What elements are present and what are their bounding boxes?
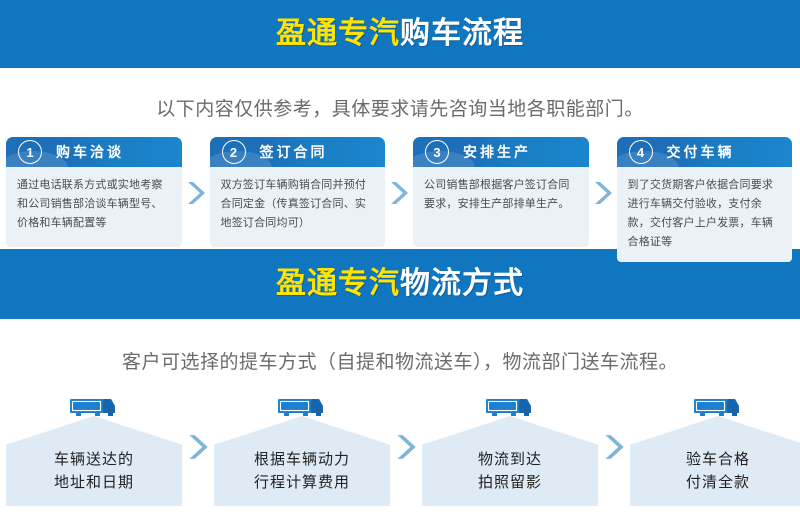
flow-card-label: 根据车辆动力 行程计算费用 [214, 448, 390, 495]
step-card-body: 公司销售部根据客户签订合同要求，安排生产部排单生产。 [413, 167, 589, 247]
chevron-right-icon [390, 396, 422, 506]
flow-label-line1: 车辆送达的 [6, 448, 182, 471]
banner-subject-text: 物流方式 [400, 267, 524, 300]
flow-card-4[interactable]: 验车合格 付清全款 [630, 396, 800, 506]
flow-label-line2: 行程计算费用 [214, 471, 390, 494]
step-card-header: 2 签订合同 [210, 137, 386, 167]
banner-title-purchase: 盈通专汽购车流程 [276, 19, 524, 49]
flow-label-line1: 根据车辆动力 [214, 448, 390, 471]
flow-card-label: 验车合格 付清全款 [630, 448, 800, 495]
truck-icon [68, 396, 120, 422]
flow-card-label: 车辆送达的 地址和日期 [6, 448, 182, 495]
logistics-caption: 客户可选择的提车方式（自提和物流送车），物流部门送车流程。 [0, 319, 800, 388]
flow-label-line2: 地址和日期 [6, 471, 182, 494]
step-card-header: 1 购车洽谈 [6, 137, 182, 167]
truck-icon [276, 396, 328, 422]
truck-icon [484, 396, 536, 422]
flow-label-line1: 物流到达 [422, 448, 598, 471]
flow-card-label: 物流到达 拍照留影 [422, 448, 598, 495]
brand-name-text: 盈通专汽 [276, 17, 400, 50]
step-title: 交付车辆 [667, 142, 735, 162]
step-description: 公司销售部根据客户签订合同要求，安排生产部排单生产。 [424, 176, 578, 214]
chevron-right-icon [182, 396, 214, 506]
flow-label-line2: 付清全款 [630, 471, 800, 494]
banner-title-logistics: 盈通专汽物流方式 [276, 269, 524, 299]
step-card-3[interactable]: 3 安排生产 公司销售部根据客户签订合同要求，安排生产部排单生产。 [413, 137, 589, 247]
purchase-process-caption: 以下内容仅供参考，具体要求请先咨询当地各职能部门。 [0, 68, 800, 137]
step-number-badge: 2 [222, 140, 246, 164]
step-description: 双方签订车辆购销合同并预付合同定金（传真签订合同、实地签订合同均可） [221, 176, 375, 233]
flow-label-line2: 拍照留影 [422, 471, 598, 494]
flow-card-1[interactable]: 车辆送达的 地址和日期 [6, 396, 182, 506]
step-card-body: 通过电话联系方式或实地考察和公司销售部洽谈车辆型号、价格和车辆配置等 [6, 167, 182, 247]
flow-card-2[interactable]: 根据车辆动力 行程计算费用 [214, 396, 390, 506]
chevron-right-icon [589, 137, 617, 249]
step-number-badge: 4 [629, 140, 653, 164]
banner-subject-text: 购车流程 [400, 17, 524, 50]
step-description: 通过电话联系方式或实地考察和公司销售部洽谈车辆型号、价格和车辆配置等 [17, 176, 171, 233]
brand-name-text: 盈通专汽 [276, 267, 400, 300]
step-number-badge: 3 [425, 140, 449, 164]
logistics-flow-list: 车辆送达的 地址和日期 根据车辆动力 行程计算费用 [0, 388, 800, 506]
step-card-1[interactable]: 1 购车洽谈 通过电话联系方式或实地考察和公司销售部洽谈车辆型号、价格和车辆配置… [6, 137, 182, 247]
step-card-header: 3 安排生产 [413, 137, 589, 167]
step-number-badge: 1 [18, 140, 42, 164]
step-card-header: 4 交付车辆 [617, 137, 793, 167]
truck-icon [692, 396, 744, 422]
purchase-steps-list: 1 购车洽谈 通过电话联系方式或实地考察和公司销售部洽谈车辆型号、价格和车辆配置… [0, 137, 800, 249]
step-card-2[interactable]: 2 签订合同 双方签订车辆购销合同并预付合同定金（传真签订合同、实地签订合同均可… [210, 137, 386, 247]
step-description: 到了交货期客户依据合同要求进行车辆交付验收，支付余款，交付客户上户发票，车辆合格… [628, 176, 782, 252]
purchase-process-banner: 盈通专汽购车流程 [0, 0, 800, 68]
step-card-body: 双方签订车辆购销合同并预付合同定金（传真签订合同、实地签订合同均可） [210, 167, 386, 247]
chevron-right-icon [598, 396, 630, 506]
flow-card-3[interactable]: 物流到达 拍照留影 [422, 396, 598, 506]
chevron-right-icon [182, 137, 210, 249]
step-card-4[interactable]: 4 交付车辆 到了交货期客户依据合同要求进行车辆交付验收，支付余款，交付客户上户… [617, 137, 793, 262]
step-title: 安排生产 [463, 142, 531, 162]
flow-label-line1: 验车合格 [630, 448, 800, 471]
step-title: 购车洽谈 [56, 142, 124, 162]
step-card-body: 到了交货期客户依据合同要求进行车辆交付验收，支付余款，交付客户上户发票，车辆合格… [617, 167, 793, 262]
step-title: 签订合同 [260, 142, 328, 162]
chevron-right-icon [385, 137, 413, 249]
